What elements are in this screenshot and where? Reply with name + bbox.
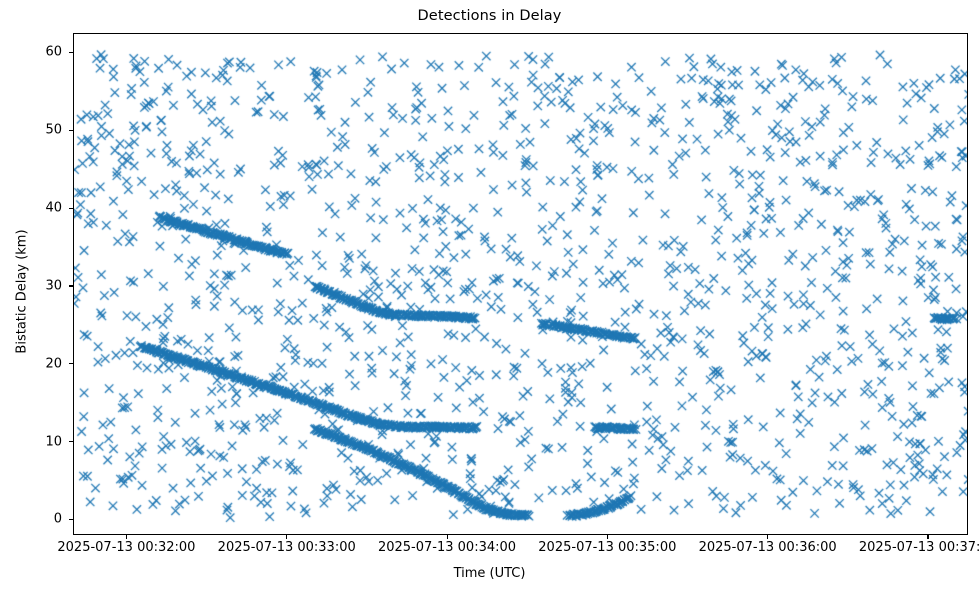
- y-tick-mark-20: [69, 363, 73, 364]
- plot-area: [73, 33, 968, 535]
- y-axis-tick-labels: 0102030405060: [0, 0, 62, 590]
- y-tick-mark-50: [69, 130, 73, 131]
- x-tick-label-2: 2025-07-13 00:34:00: [378, 540, 516, 555]
- x-tick-mark-4: [767, 535, 768, 539]
- figure-canvas: Detections in Delay 0102030405060 2025-0…: [0, 0, 979, 590]
- y-tick-label-0: 0: [54, 512, 62, 527]
- y-tick-label-40: 40: [45, 201, 62, 216]
- x-tick-label-1: 2025-07-13 00:33:00: [218, 540, 356, 555]
- scatter-plot-canvas: [74, 34, 968, 535]
- x-tick-label-0: 2025-07-13 00:32:00: [57, 540, 195, 555]
- chart-title: Detections in Delay: [0, 8, 979, 24]
- x-tick-label-3: 2025-07-13 00:35:00: [538, 540, 676, 555]
- y-tick-mark-0: [69, 519, 73, 520]
- x-tick-mark-2: [447, 535, 448, 539]
- y-tick-mark-10: [69, 441, 73, 442]
- y-tick-label-50: 50: [45, 123, 62, 138]
- y-axis-label: Bistatic Delay (km): [15, 162, 30, 422]
- y-tick-label-20: 20: [45, 356, 62, 371]
- y-tick-mark-40: [69, 208, 73, 209]
- x-tick-label-5: 2025-07-13 00:37:00: [859, 540, 979, 555]
- y-tick-label-60: 60: [45, 45, 62, 60]
- x-tick-label-4: 2025-07-13 00:36:00: [699, 540, 837, 555]
- x-tick-mark-3: [607, 535, 608, 539]
- x-tick-mark-5: [927, 535, 928, 539]
- y-tick-label-30: 30: [45, 278, 62, 293]
- x-tick-mark-1: [286, 535, 287, 539]
- y-tick-label-10: 10: [45, 434, 62, 449]
- x-axis-label: Time (UTC): [0, 566, 979, 581]
- y-tick-mark-60: [69, 52, 73, 53]
- x-tick-mark-0: [126, 535, 127, 539]
- y-tick-mark-30: [69, 285, 73, 286]
